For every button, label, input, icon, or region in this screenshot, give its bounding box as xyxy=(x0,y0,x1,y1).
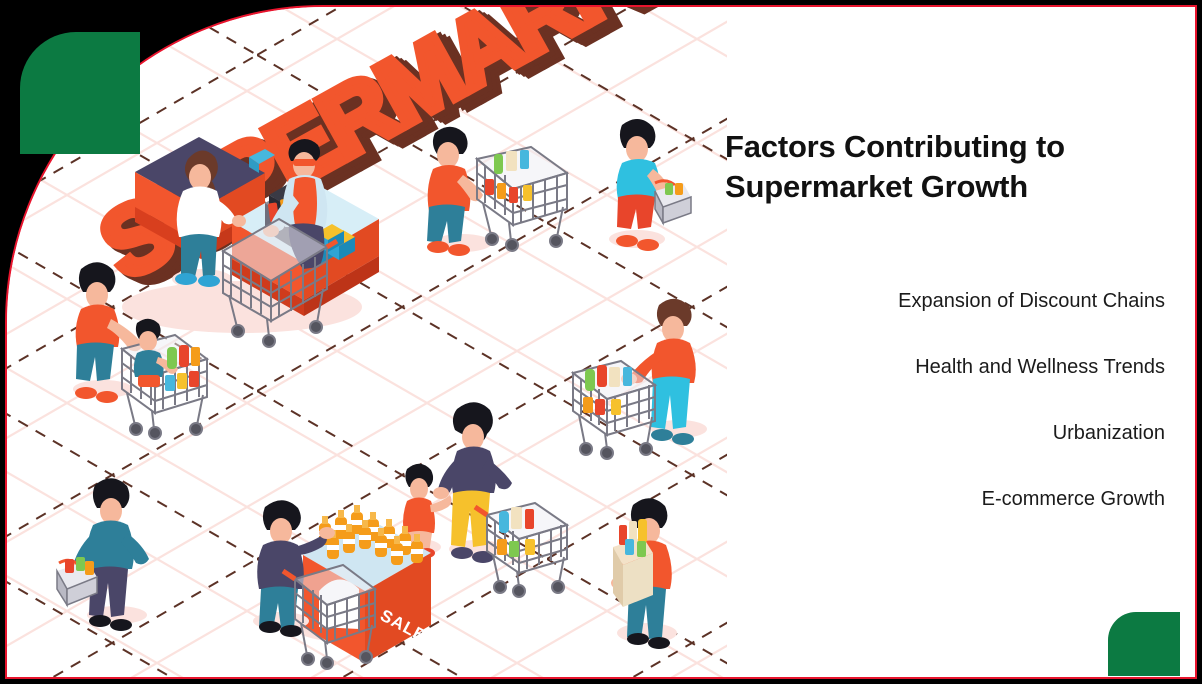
page-title: Factors Contributing to Supermarket Grow… xyxy=(707,127,1167,208)
list-item: Expansion of Discount Chains xyxy=(707,268,1167,334)
factor-list: Expansion of Discount Chains Health and … xyxy=(707,268,1167,532)
page-title-line-1: Factors Contributing to xyxy=(725,127,1167,167)
page-title-line-2: Supermarket Growth xyxy=(725,167,1167,207)
list-item: Urbanization xyxy=(707,400,1167,466)
green-square-bottom-right xyxy=(1108,612,1180,676)
list-item: E-commerce Growth xyxy=(707,466,1167,532)
text-panel: Factors Contributing to Supermarket Grow… xyxy=(707,127,1167,532)
green-square-top-left xyxy=(20,32,140,154)
paper-grocery-bag xyxy=(613,519,653,607)
infographic-card: SUPERMARKET SUPERMARKET SUPERMARKET SUPE… xyxy=(5,5,1197,679)
list-item: Health and Wellness Trends xyxy=(707,334,1167,400)
screenshot-root: SUPERMARKET SUPERMARKET SUPERMARKET SUPE… xyxy=(0,0,1202,684)
